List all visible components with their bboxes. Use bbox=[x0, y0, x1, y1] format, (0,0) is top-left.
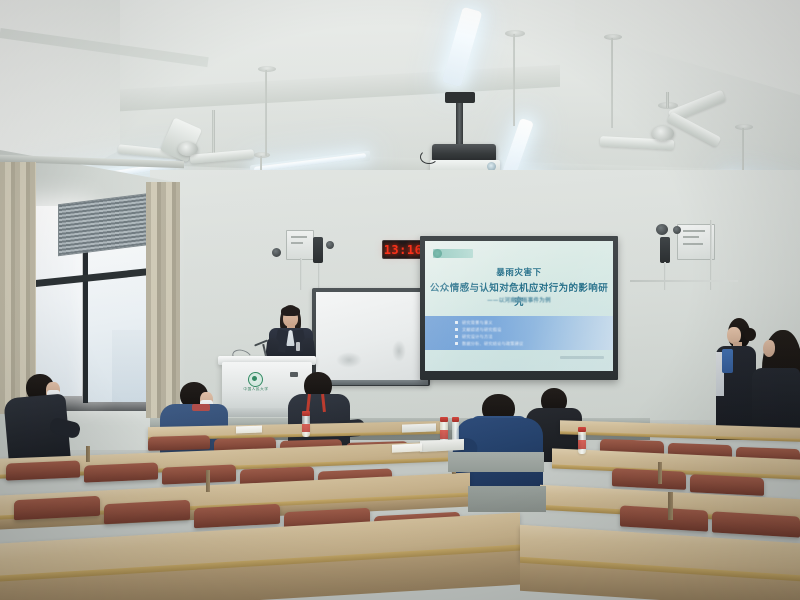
wall-speaker bbox=[660, 237, 670, 263]
desk-leg bbox=[668, 492, 673, 520]
bottle-cap bbox=[302, 411, 310, 416]
wall-conduit bbox=[630, 280, 738, 282]
wall-box-slot bbox=[683, 236, 699, 238]
podium-control-plate[interactable] bbox=[290, 372, 298, 377]
ceiling-fan-right-hub bbox=[652, 126, 674, 141]
whiteboard-smudge bbox=[392, 340, 406, 362]
slide-title-line1: 暴雨灾害下 bbox=[425, 266, 613, 278]
slide-bullet-marker bbox=[455, 328, 458, 331]
paper bbox=[392, 443, 422, 453]
wall-box-slot bbox=[683, 230, 705, 232]
wall-control-panel[interactable] bbox=[286, 230, 314, 260]
bottle-cap bbox=[440, 417, 448, 422]
slide-bullet-marker bbox=[455, 321, 458, 324]
wall-conduit bbox=[318, 263, 320, 289]
ceiling-mount-canopy bbox=[604, 34, 622, 40]
podium-nameplate: 中国人民大学 bbox=[236, 387, 276, 392]
slide-bullet: 文献综述与研究假设 bbox=[462, 327, 502, 333]
ceiling-mount-canopy bbox=[254, 152, 270, 158]
desk-leg bbox=[658, 462, 662, 484]
bottle-label bbox=[578, 440, 586, 449]
bench-back bbox=[162, 464, 236, 484]
desk-leg bbox=[206, 470, 210, 492]
ceiling-fan-right-rod bbox=[666, 92, 669, 108]
ceiling-mount-canopy bbox=[735, 124, 753, 130]
led-wall-clock: 13:16 bbox=[382, 240, 424, 259]
book bbox=[402, 423, 436, 432]
university-crest-center bbox=[252, 376, 257, 381]
wall-speaker bbox=[313, 237, 323, 263]
projector-bracket bbox=[445, 92, 475, 103]
ceiling-fan-left-rod bbox=[212, 110, 215, 154]
floor bbox=[448, 452, 544, 472]
wall-conduit bbox=[300, 258, 302, 290]
security-camera-icon bbox=[656, 224, 668, 235]
ceiling-mount-rod bbox=[611, 38, 613, 128]
bottle-cap bbox=[452, 417, 459, 422]
bench-back bbox=[712, 511, 800, 537]
slide-bullet-marker bbox=[455, 342, 458, 345]
whiteboard[interactable] bbox=[316, 292, 426, 380]
ceiling-mount-rod bbox=[513, 34, 515, 126]
projector-cable bbox=[420, 150, 438, 164]
sensor-icon bbox=[326, 241, 334, 249]
standing-woman-1-scarf bbox=[722, 349, 733, 373]
sensor-icon bbox=[673, 226, 681, 234]
wall-conduit bbox=[664, 262, 666, 290]
bottle-label bbox=[302, 424, 310, 432]
floor bbox=[468, 486, 546, 512]
slide-subtitle: ——以河南暴雨事件为例 bbox=[425, 296, 613, 304]
ceiling-mount-canopy bbox=[258, 66, 276, 72]
security-camera-icon bbox=[272, 248, 281, 257]
projector-pole bbox=[456, 96, 463, 148]
classroom-photo: 13:16 暴雨灾害下 公众情感与认知对危机应对行为的影响研究 ——以河南暴雨事… bbox=[0, 0, 800, 600]
presenter-hair-front bbox=[281, 306, 300, 316]
bottle-label bbox=[440, 430, 448, 439]
slide-bullet-marker bbox=[455, 335, 458, 338]
bench-back bbox=[84, 462, 158, 482]
slide-bullet: 研究背景与意义 bbox=[462, 320, 493, 326]
curtain-right bbox=[146, 182, 180, 418]
ceiling-fan-left-hub bbox=[178, 142, 198, 156]
standing-woman-2-face bbox=[763, 340, 775, 357]
desk-leg bbox=[86, 446, 90, 462]
wall-panel-slot bbox=[291, 242, 303, 244]
slide-footer bbox=[560, 356, 604, 359]
bench-back bbox=[148, 435, 210, 451]
slide-bullet: 数据分析、研究结论与政策建议 bbox=[462, 341, 523, 347]
wall-panel-slot bbox=[291, 236, 307, 238]
bench-back bbox=[6, 460, 80, 480]
paper bbox=[236, 426, 262, 434]
bench-back bbox=[690, 474, 764, 496]
bottle-cap bbox=[578, 427, 586, 432]
whiteboard-smudge bbox=[336, 352, 362, 368]
ceiling-mount-canopy bbox=[505, 30, 525, 37]
presenter-badge bbox=[296, 342, 300, 351]
bench-back bbox=[194, 504, 280, 529]
slide-bullet: 研究设计与方法 bbox=[462, 334, 493, 340]
wall-box-slot bbox=[683, 243, 703, 245]
book bbox=[420, 439, 464, 452]
standing-woman-1-bun bbox=[744, 328, 756, 341]
bench-back bbox=[612, 468, 686, 490]
bench-back bbox=[620, 505, 708, 531]
student-2-collar bbox=[192, 404, 210, 411]
university-logo-icon bbox=[433, 249, 442, 258]
ceiling-mount-rod bbox=[265, 70, 267, 156]
clock-time: 13:16 bbox=[384, 243, 423, 257]
